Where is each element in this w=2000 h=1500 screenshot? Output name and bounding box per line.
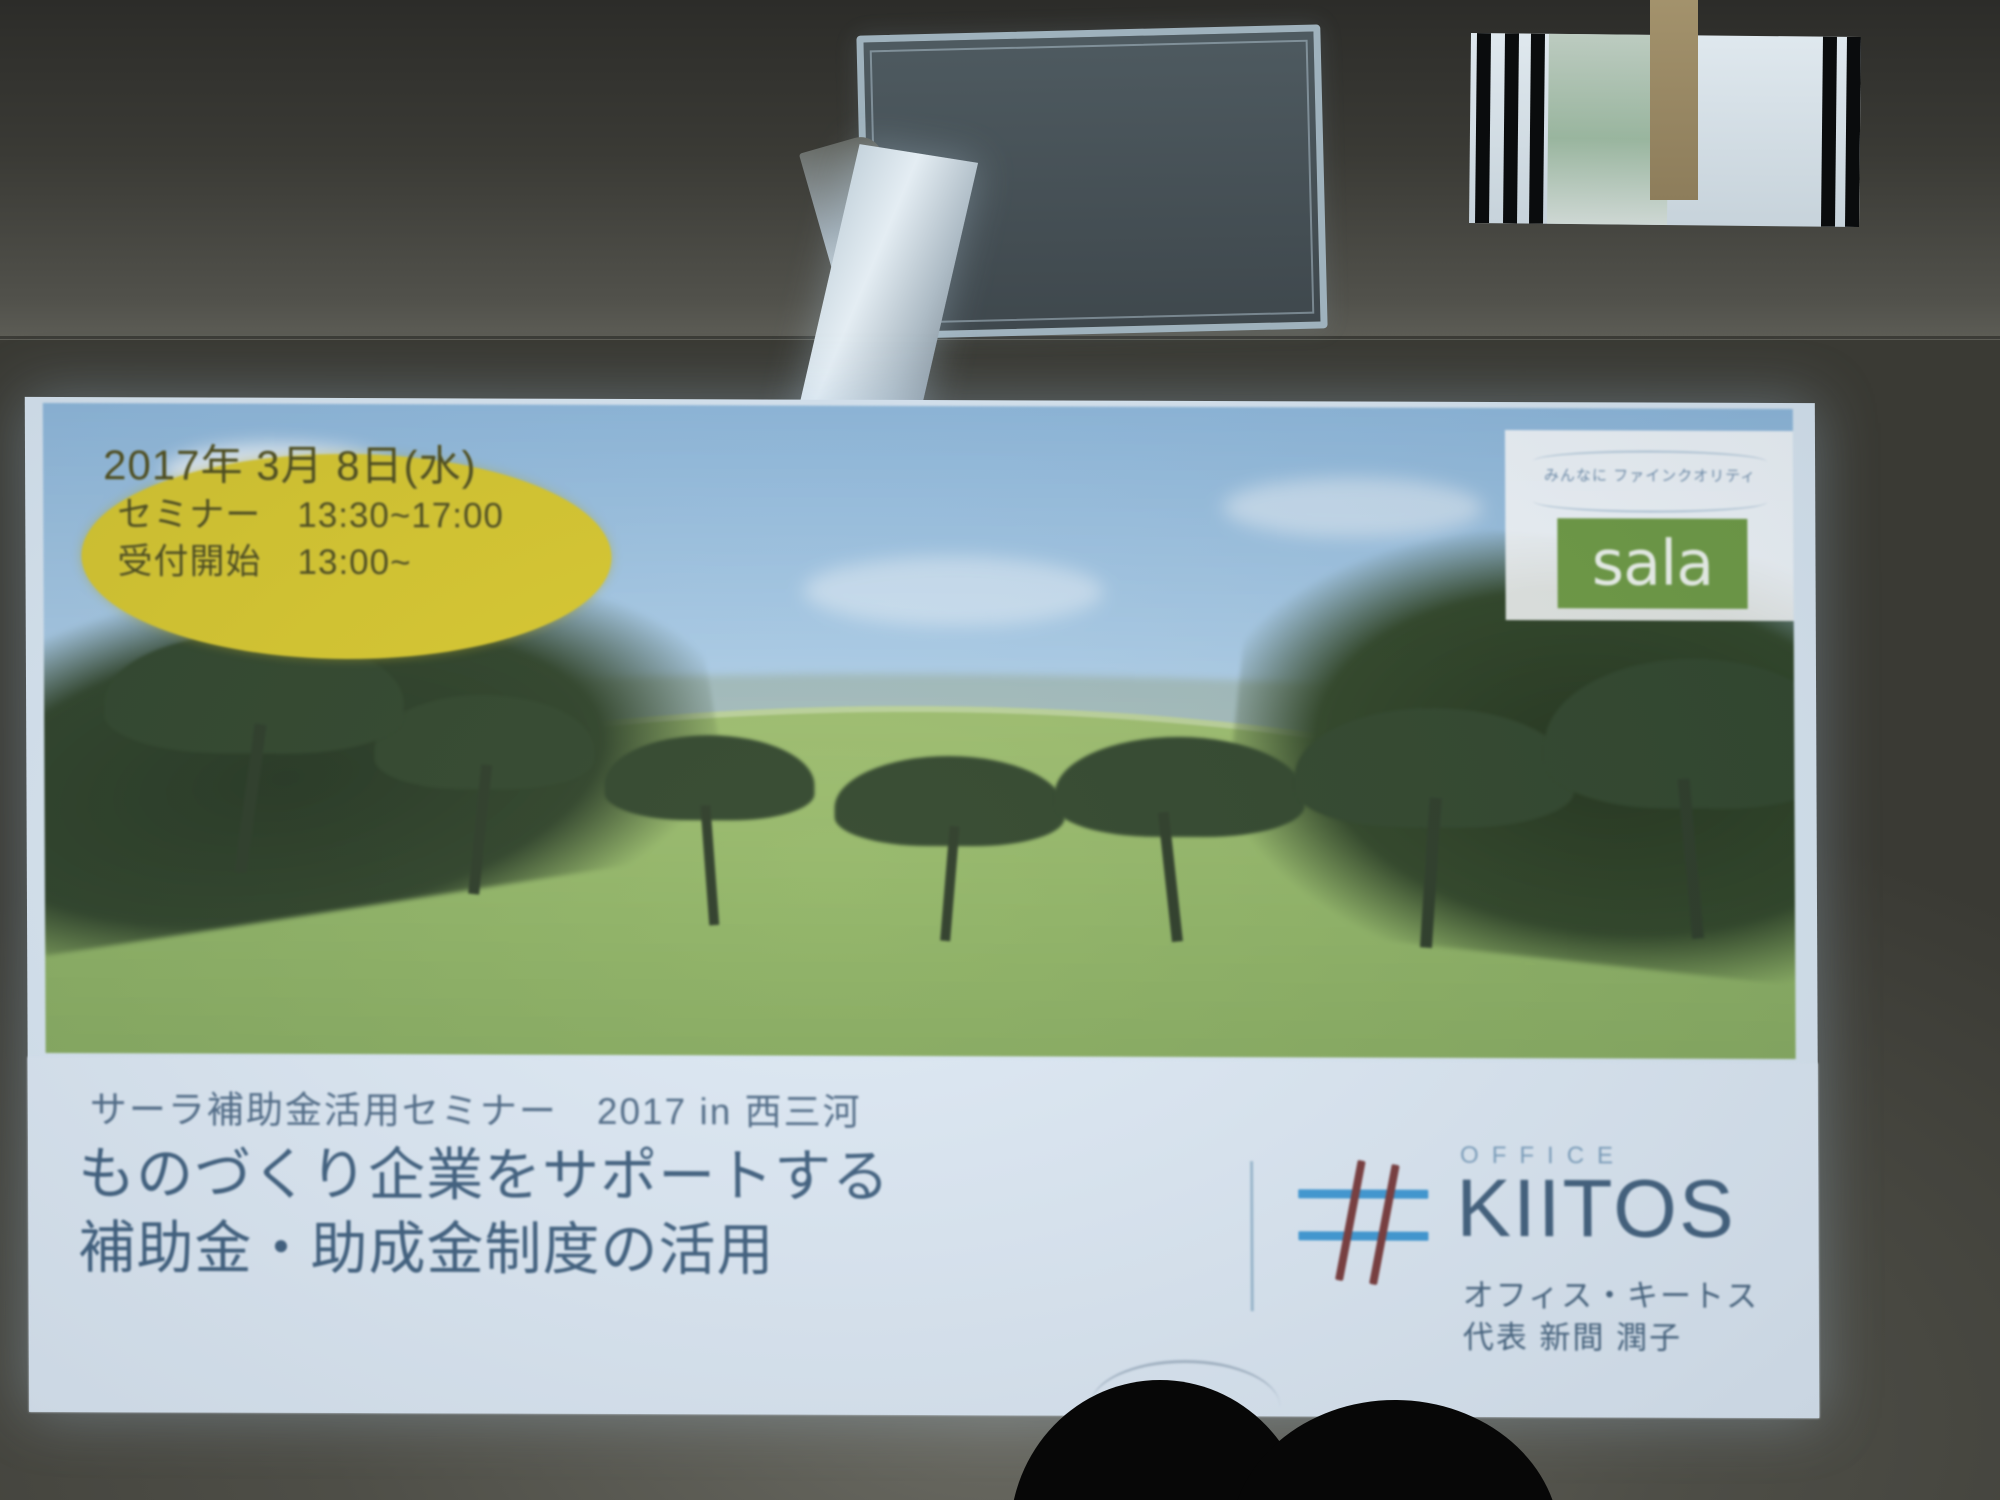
slide-photo: みんなに ファインクオリティ sala 2017年 3月 8日(水) セミナー … — [43, 403, 1796, 1059]
callout-reception-time: 受付開始 13:00~ — [103, 539, 563, 587]
kiitos-crosshatch-icon — [1290, 1159, 1441, 1280]
sala-wordmark-box: sala — [1557, 518, 1747, 609]
slide-title-band: サーラ補助金活用セミナー 2017 in 西三河 ものづくり企業をサポートする … — [28, 1057, 1820, 1418]
kiitos-jp-name: オフィス・キートス — [1463, 1270, 1760, 1316]
headline-line-1: ものづくり企業をサポートする — [78, 1137, 890, 1214]
blind-slat — [1529, 34, 1545, 224]
window-post — [1650, 0, 1698, 200]
headline-line-2: 補助金・助成金制度の活用 — [78, 1211, 890, 1288]
sala-wordmark: sala — [1592, 532, 1714, 594]
kiitos-representative: 代表 新間 潤子 — [1463, 1312, 1682, 1358]
callout-date: 2017年 3月 8日(水) — [103, 437, 563, 494]
kiitos-logo: OFFICE KIITOS オフィス・キートス 代表 新間 潤子 — [1290, 1141, 1771, 1373]
sala-logo: みんなに ファインクオリティ sala — [1505, 430, 1796, 621]
projected-slide: みんなに ファインクオリティ sala 2017年 3月 8日(水) セミナー … — [25, 397, 1819, 1418]
slide-kicker: サーラ補助金活用セミナー 2017 in 西三河 — [90, 1079, 862, 1136]
blind-slat — [1503, 33, 1519, 223]
slide-headline: ものづくり企業をサポートする 補助金・助成金制度の活用 — [78, 1137, 891, 1288]
ceiling-wall-seam — [0, 336, 2000, 339]
sala-swoosh-bottom-icon — [1533, 490, 1767, 513]
sala-tagline: みんなに ファインクオリティ — [1505, 464, 1795, 486]
blind-slat — [1845, 37, 1861, 227]
kiitos-wordmark: KIITOS — [1456, 1168, 1736, 1251]
date-callout-text: 2017年 3月 8日(水) セミナー 13:30~17:00 受付開始 13:… — [103, 437, 564, 586]
callout-seminar-time: セミナー 13:30~17:00 — [103, 493, 563, 541]
blind-slat — [1475, 33, 1491, 223]
vertical-divider — [1250, 1161, 1254, 1311]
conference-room-scene: みんなに ファインクオリティ sala 2017年 3月 8日(水) セミナー … — [0, 0, 2000, 1500]
blind-slat — [1821, 37, 1837, 227]
